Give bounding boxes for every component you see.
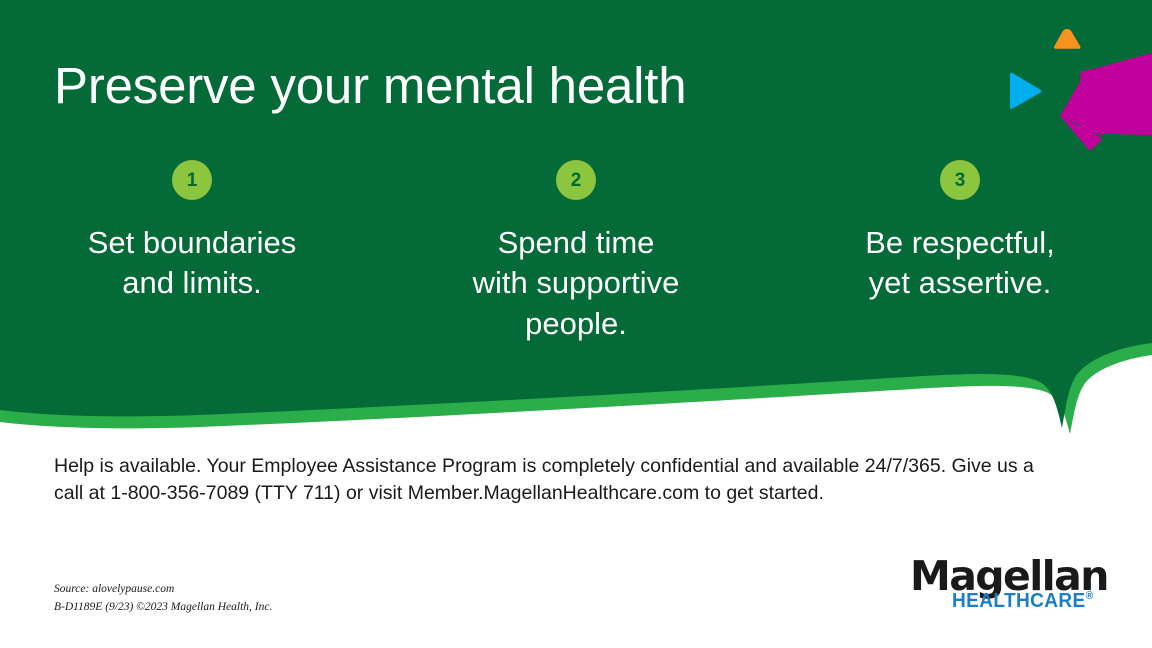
registered-mark-icon: ® [1086, 590, 1094, 602]
tip-item-3: 3 Be respectful, yet assertive. [768, 160, 1152, 304]
footer-body-text: Help is available. Your Employee Assista… [54, 453, 1034, 507]
tip-label-3: Be respectful, yet assertive. [865, 223, 1055, 304]
magellan-healthcare-logo: Magellan HEALTHCARE® [910, 556, 1106, 612]
slide-canvas: Preserve your mental health 1 Set bounda… [0, 0, 1152, 648]
page-title: Preserve your mental health [54, 58, 686, 114]
tip-item-2: 2 Spend time with supportive people. [384, 160, 768, 344]
logo-subtitle-text: HEALTHCARE [952, 589, 1086, 612]
logo-subtitle: HEALTHCARE® [952, 591, 1094, 612]
tip-item-1: 1 Set boundaries and limits. [0, 160, 384, 304]
source-line: Source: alovelypause.com [54, 580, 272, 598]
tip-number-badge-1: 1 [172, 160, 212, 200]
tips-row: 1 Set boundaries and limits. 2 Spend tim… [0, 160, 1152, 344]
source-legal-block: Source: alovelypause.com B-D1189E (9/23)… [54, 580, 272, 616]
tip-label-1: Set boundaries and limits. [88, 223, 297, 304]
legal-line: B-D1189E (9/23) ©2023 Magellan Health, I… [54, 598, 272, 616]
tip-label-2: Spend time with supportive people. [473, 223, 680, 344]
tip-number-badge-3: 3 [940, 160, 980, 200]
tip-number-badge-2: 2 [556, 160, 596, 200]
